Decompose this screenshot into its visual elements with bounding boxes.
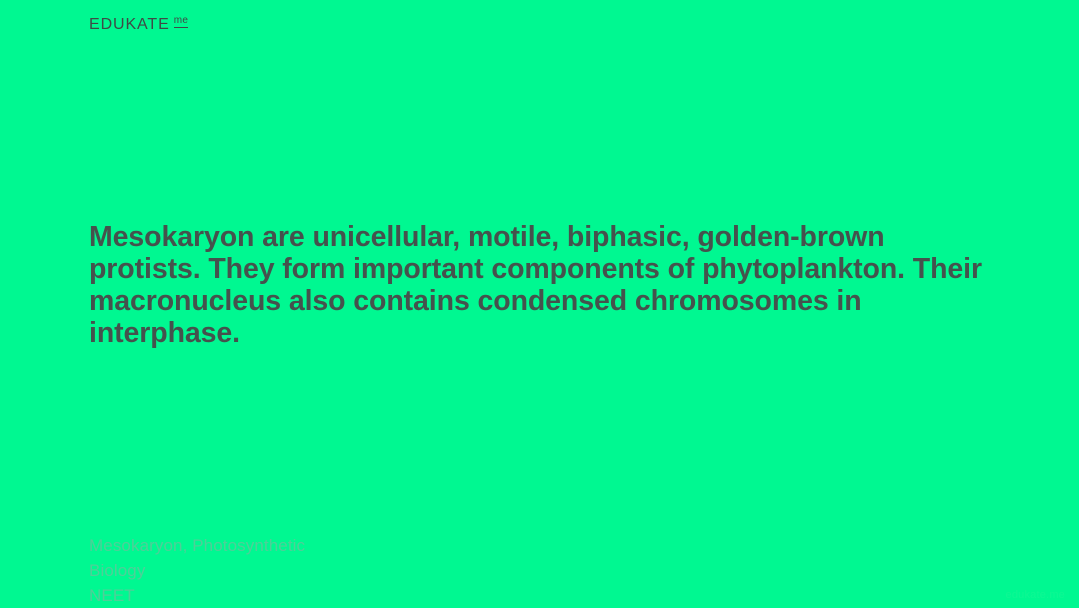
brand-name: EDUKATE	[89, 15, 170, 35]
meta-line-subject: Biology	[89, 558, 589, 583]
statement-text: Mesokaryon are unicellular, motile, biph…	[89, 221, 994, 349]
meta-line-topics: Mesokaryon, Photosynthetic	[89, 533, 589, 558]
slide-canvas: EDUKATE me Mesokaryon are unicellular, m…	[0, 0, 1079, 607]
brand-suffix: me	[174, 16, 189, 28]
watermark-label: edukate.me	[1006, 589, 1065, 602]
brand-logo[interactable]: EDUKATE me	[89, 15, 188, 35]
meta-block: Mesokaryon, Photosynthetic Biology NEET	[89, 533, 589, 608]
meta-line-exam: NEET	[89, 583, 589, 608]
